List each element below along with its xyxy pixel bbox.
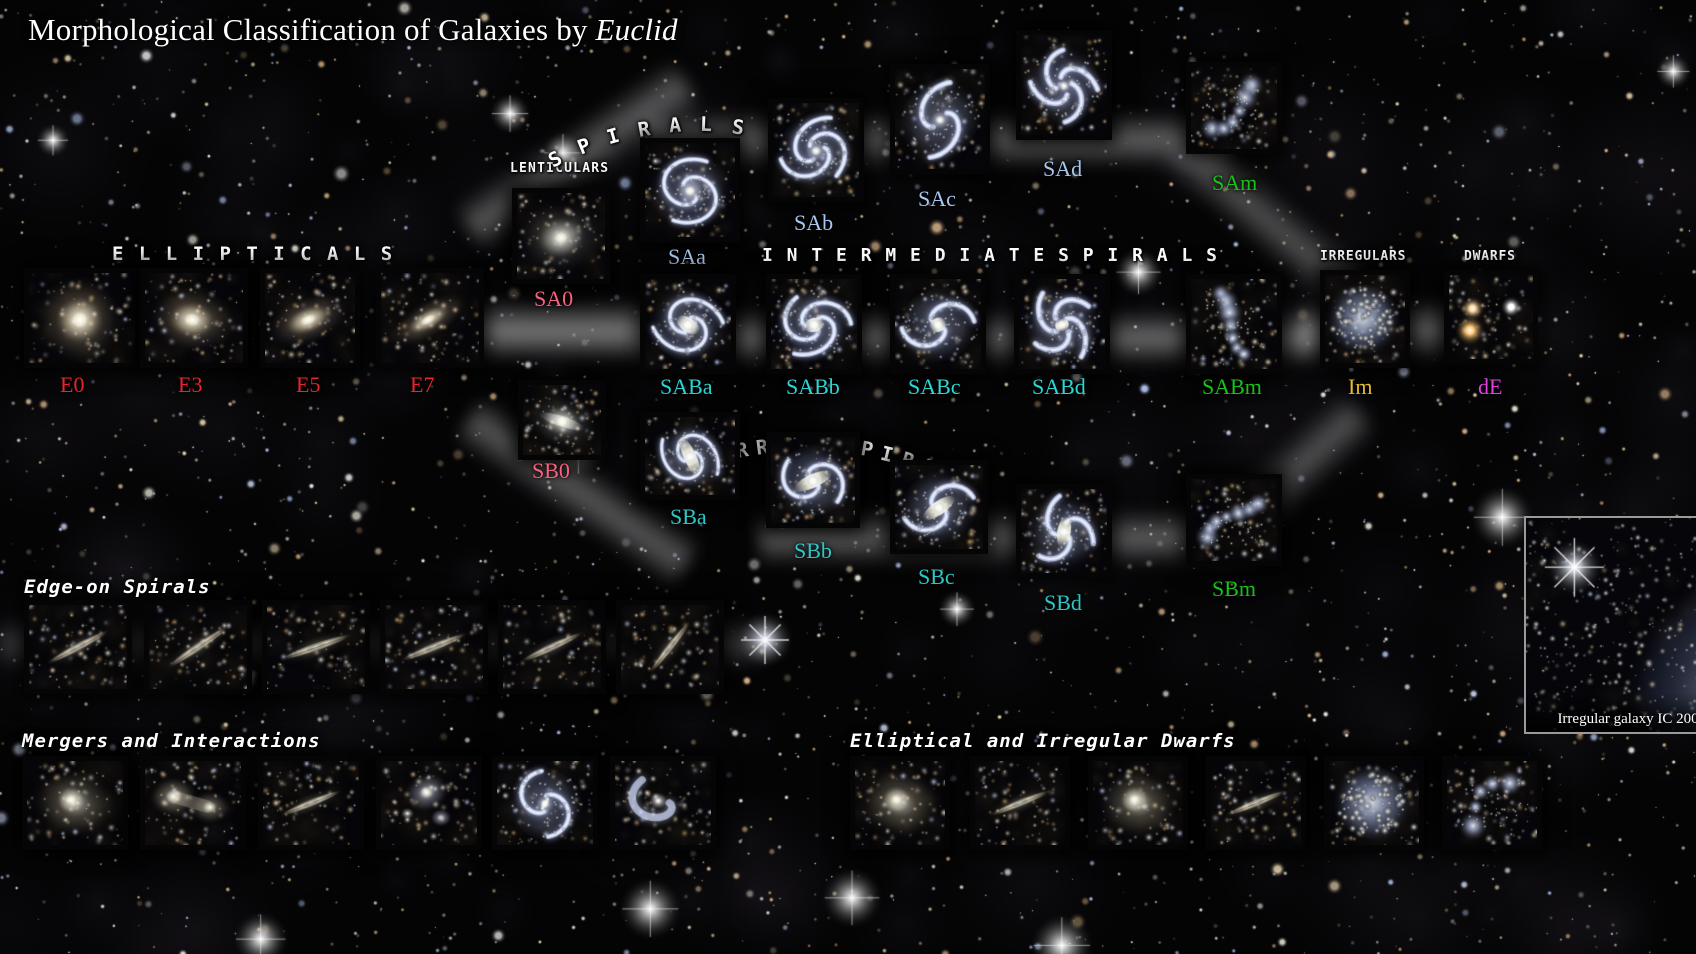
galaxy-image: [1211, 761, 1301, 845]
inset-caption: Irregular galaxy IC 2009 (Im): [1526, 711, 1696, 728]
galaxy-thumbnail-frame: [512, 188, 610, 284]
inset-image: [1526, 518, 1696, 732]
arc-letter: L: [700, 112, 713, 136]
heading-mergers-and-interactions: Mergers and Interactions: [22, 730, 321, 752]
galaxy-cell-e3[interactable]: [140, 268, 248, 368]
galaxy-thumbnail-frame: [1320, 270, 1410, 368]
galaxy-cell-sabm[interactable]: [1186, 274, 1282, 374]
galaxy-image: [1021, 35, 1107, 135]
page-title: Morphological Classification of Galaxies…: [28, 12, 678, 48]
galaxy-label-sba: SBa: [670, 506, 707, 528]
galaxy-image: [503, 605, 601, 689]
galaxy-thumbnail-frame: [24, 600, 132, 694]
galaxy-cell-sabb[interactable]: [766, 274, 862, 374]
section-header-intermediate-spirals: I N T E R M E D I A T E S P I R A L S: [762, 245, 1218, 266]
galaxy-thumbnail-frame: [144, 600, 252, 694]
galaxy-thumbnail-frame: [1088, 756, 1188, 850]
galaxy-thumbnail-frame: [640, 274, 736, 374]
galaxy-cell-merger-5[interactable]: [610, 756, 716, 850]
galaxy-image: [1019, 279, 1105, 369]
galaxy-cell-sab[interactable]: [768, 98, 864, 202]
galaxy-cell-merger-2[interactable]: [258, 756, 364, 850]
galaxy-label-e0: E0: [60, 374, 84, 396]
galaxy-thumbnail-frame: [766, 432, 860, 528]
galaxy-image: [1093, 761, 1183, 845]
galaxy-label-sac: SAc: [918, 188, 956, 210]
galaxy-image: [29, 273, 135, 363]
galaxy-image: [1329, 761, 1419, 845]
galaxy-thumbnail-frame: [1444, 270, 1538, 364]
galaxy-image: [895, 69, 985, 169]
galaxy-label-sb0: SB0: [532, 460, 570, 482]
galaxy-thumbnail-frame: [610, 756, 716, 850]
galaxy-image: [895, 279, 981, 369]
galaxy-image: [517, 193, 605, 279]
galaxy-image: [145, 273, 243, 363]
galaxy-cell-edgeon-0[interactable]: [24, 600, 132, 694]
galaxy-cell-edgeon-1[interactable]: [144, 600, 252, 694]
galaxy-image: [1191, 67, 1277, 149]
galaxy-thumbnail-frame: [1442, 756, 1542, 850]
galaxy-image: [615, 761, 711, 845]
galaxy-thumbnail-frame: [376, 756, 482, 850]
galaxy-thumbnail-frame: [380, 600, 488, 694]
galaxy-thumbnail-frame: [890, 64, 990, 174]
galaxy-cell-sbb[interactable]: [766, 432, 860, 528]
galaxy-image: [265, 273, 355, 363]
galaxy-image: [523, 385, 601, 455]
galaxy-thumbnail-frame: [1186, 474, 1282, 566]
galaxy-cell-e5[interactable]: [260, 268, 360, 368]
galaxy-cell-sb0[interactable]: [518, 380, 606, 460]
galaxy-cell-im[interactable]: [1320, 270, 1410, 368]
galaxy-cell-de[interactable]: [1444, 270, 1538, 364]
galaxy-thumbnail-frame: [140, 756, 246, 850]
galaxy-label-de: dE: [1478, 376, 1502, 398]
galaxy-cell-merger-1[interactable]: [140, 756, 246, 850]
galaxy-image: [975, 761, 1065, 845]
galaxy-cell-merger-4[interactable]: [492, 756, 598, 850]
galaxy-thumbnail-frame: [890, 460, 988, 554]
galaxy-label-sabb: SABb: [786, 376, 840, 398]
galaxy-image: [1191, 279, 1277, 369]
galaxy-thumbnail-frame: [640, 412, 740, 500]
galaxy-label-sabd: SABd: [1032, 376, 1086, 398]
galaxy-label-saba: SABa: [660, 376, 713, 398]
galaxy-label-sab: SAb: [794, 212, 833, 234]
galaxy-thumbnail-frame: [1016, 30, 1112, 140]
galaxy-thumbnail-frame: [616, 600, 724, 694]
galaxy-cell-dwarfgal-5[interactable]: [1442, 756, 1542, 850]
section-header-irregulars: IRREGULARS: [1320, 249, 1406, 264]
galaxy-thumbnail-frame: [260, 268, 360, 368]
galaxy-image: [1191, 479, 1277, 561]
title-main: Morphological Classification of Galaxies…: [28, 12, 596, 47]
galaxy-image: [621, 605, 719, 689]
galaxy-image: [771, 437, 855, 523]
galaxy-cell-e0[interactable]: [24, 268, 140, 368]
galaxy-thumbnail-frame: [492, 756, 598, 850]
galaxy-thumbnail-frame: [768, 98, 864, 202]
galaxy-image: [385, 605, 483, 689]
galaxy-thumbnail-frame: [1186, 62, 1282, 154]
galaxy-label-sbm: SBm: [1212, 578, 1256, 600]
galaxy-image: [29, 605, 127, 689]
galaxy-image: [1447, 761, 1537, 845]
galaxy-thumbnail-frame: [1206, 756, 1306, 850]
galaxy-image: [267, 605, 365, 689]
section-header-ellipticals: E L L I P T I C A L S: [112, 243, 394, 265]
galaxy-cell-dwarfgal-0[interactable]: [850, 756, 950, 850]
galaxy-image: [145, 761, 241, 845]
galaxy-cell-sbd[interactable]: [1016, 484, 1112, 578]
galaxy-image: [645, 279, 731, 369]
galaxy-thumbnail-frame: [970, 756, 1070, 850]
galaxy-cell-e7[interactable]: [376, 268, 484, 368]
galaxy-label-im: Im: [1348, 376, 1372, 398]
galaxy-cell-sad[interactable]: [1016, 30, 1112, 140]
galaxy-thumbnail-frame: [24, 268, 140, 368]
galaxy-cell-sabc[interactable]: [890, 274, 986, 374]
galaxy-image: [895, 465, 983, 549]
galaxy-cell-merger-3[interactable]: [376, 756, 482, 850]
galaxy-image: [645, 417, 735, 495]
galaxy-thumbnail-frame: [640, 138, 740, 242]
inset-panel-ic2009: Irregular galaxy IC 2009 (Im): [1524, 516, 1696, 734]
galaxy-thumbnail-frame: [262, 600, 370, 694]
galaxy-thumbnail-frame: [258, 756, 364, 850]
galaxy-cell-sbc[interactable]: [890, 460, 988, 554]
galaxy-cell-edgeon-3[interactable]: [380, 600, 488, 694]
galaxy-label-sam: SAm: [1212, 172, 1257, 194]
galaxy-image: [1325, 275, 1405, 363]
section-header-dwarfs: DWARFS: [1464, 249, 1516, 264]
galaxy-image: [771, 279, 857, 369]
galaxy-label-sbc: SBc: [918, 566, 955, 588]
galaxy-thumbnail-frame: [140, 268, 248, 368]
galaxy-cell-sam[interactable]: [1186, 62, 1282, 154]
galaxy-thumbnail-frame: [766, 274, 862, 374]
galaxy-cell-dwarfgal-3[interactable]: [1206, 756, 1306, 850]
galaxy-image: [1021, 489, 1107, 573]
galaxy-cell-sa0[interactable]: [512, 188, 610, 284]
galaxy-thumbnail-frame: [1324, 756, 1424, 850]
galaxy-label-e5: E5: [296, 374, 320, 396]
galaxy-image: [27, 761, 123, 845]
galaxy-label-sbd: SBd: [1044, 592, 1082, 614]
galaxy-label-sabm: SABm: [1202, 376, 1262, 398]
galaxy-image: [855, 761, 945, 845]
galaxy-thumbnail-frame: [498, 600, 606, 694]
galaxy-cell-sba[interactable]: [640, 412, 740, 500]
galaxy-image: [381, 761, 477, 845]
title-euclid: Euclid: [596, 12, 678, 47]
galaxy-image: [263, 761, 359, 845]
galaxy-label-sabc: SABc: [908, 376, 961, 398]
galaxy-cell-dwarfgal-4[interactable]: [1324, 756, 1424, 850]
galaxy-label-sad: SAd: [1043, 158, 1082, 180]
galaxy-image: [645, 143, 735, 237]
galaxy-thumbnail-frame: [1016, 484, 1112, 578]
galaxy-thumbnail-frame: [22, 756, 128, 850]
galaxy-label-saa: SAa: [668, 246, 706, 268]
galaxy-cell-sbm[interactable]: [1186, 474, 1282, 566]
galaxy-cell-dwarfgal-1[interactable]: [970, 756, 1070, 850]
galaxy-image: [381, 273, 479, 363]
galaxy-thumbnail-frame: [518, 380, 606, 460]
heading-edge-on-spirals: Edge-on Spirals: [24, 576, 211, 598]
galaxy-thumbnail-frame: [850, 756, 950, 850]
galaxy-thumbnail-frame: [1186, 274, 1282, 374]
galaxy-label-sbb: SBb: [794, 540, 832, 562]
galaxy-cell-sabd[interactable]: [1014, 274, 1110, 374]
galaxy-cell-dwarfgal-2[interactable]: [1088, 756, 1188, 850]
galaxy-label-e3: E3: [178, 374, 202, 396]
galaxy-cell-saa[interactable]: [640, 138, 740, 242]
galaxy-image: [149, 605, 247, 689]
arc-letter: A: [668, 112, 682, 137]
galaxy-cell-saba[interactable]: [640, 274, 736, 374]
galaxy-thumbnail-frame: [1014, 274, 1110, 374]
galaxy-cell-merger-0[interactable]: [22, 756, 128, 850]
galaxy-label-sa0: SA0: [534, 288, 573, 310]
galaxy-cell-edgeon-2[interactable]: [262, 600, 370, 694]
heading-elliptical-and-irregular-dwarfs: Elliptical and Irregular Dwarfs: [850, 730, 1236, 752]
galaxy-cell-edgeon-5[interactable]: [616, 600, 724, 694]
galaxy-image: [1449, 275, 1533, 359]
galaxy-cell-edgeon-4[interactable]: [498, 600, 606, 694]
galaxy-cell-sac[interactable]: [890, 64, 990, 174]
galaxy-label-e7: E7: [410, 374, 434, 396]
galaxy-image: [773, 103, 859, 197]
galaxy-image: [497, 761, 593, 845]
galaxy-thumbnail-frame: [890, 274, 986, 374]
galaxy-thumbnail-frame: [376, 268, 484, 368]
